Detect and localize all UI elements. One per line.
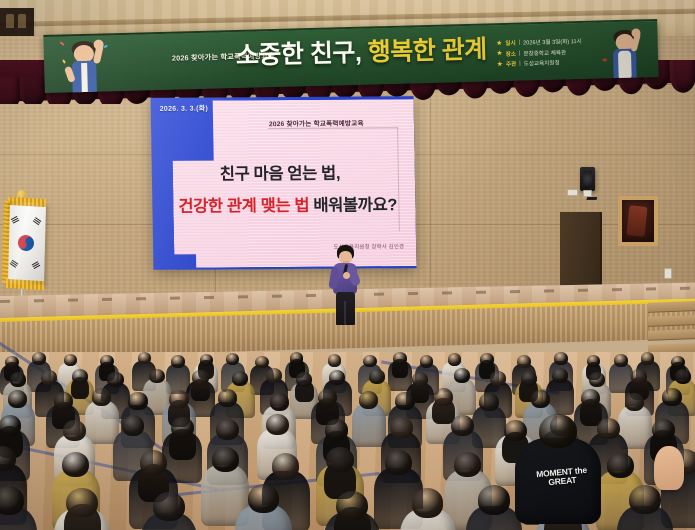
audience-head — [192, 370, 208, 385]
audience-head — [325, 419, 348, 440]
audience-head — [412, 372, 428, 387]
audience-head — [66, 488, 98, 517]
trigram — [11, 216, 20, 224]
trigram — [33, 217, 42, 225]
audience-head — [395, 392, 414, 410]
star-icon: ★ — [497, 61, 503, 68]
slide-header-text: 2026 찾아가는 학교폭력예방교육 — [269, 117, 364, 128]
audience-head — [72, 369, 88, 384]
audience-head — [412, 488, 444, 517]
curtain-scallop — [669, 60, 695, 93]
audience-head — [607, 453, 634, 478]
audience-head — [434, 388, 453, 406]
audience-head — [0, 415, 21, 436]
audience-head — [589, 372, 605, 387]
slide-highlight: 건강한 관계 맺는 법 — [178, 197, 309, 216]
audience-head — [539, 414, 577, 448]
audience-head — [517, 355, 531, 367]
audience-head — [675, 369, 691, 384]
stage-steps[interactable] — [648, 295, 695, 359]
banner-info-row: ★ 주관 | 도성교육지원청 — [497, 58, 583, 68]
curtain-scallop — [0, 77, 21, 104]
banner-title-part1: 소중한 친구, — [236, 39, 362, 70]
audience-member — [235, 484, 291, 530]
audience-head — [328, 354, 342, 366]
separator: | — [519, 61, 521, 67]
banner-title-part2: 행복한 관계 — [367, 35, 487, 66]
audience-head — [581, 389, 600, 407]
presenter-pants — [336, 292, 355, 325]
audience-head — [226, 353, 240, 365]
banner-info-label: 일시 — [505, 39, 516, 47]
audience-head — [587, 355, 601, 367]
audience-head — [554, 352, 568, 364]
audience-head — [296, 372, 312, 387]
audience-head — [521, 371, 537, 386]
audience-head — [336, 491, 368, 520]
audience-head — [140, 450, 167, 475]
audience-head — [100, 355, 114, 367]
banner-info-label: 장소 — [506, 49, 517, 57]
audience-head — [329, 370, 345, 385]
flag-fringe-side — [2, 201, 10, 283]
audience-member — [324, 491, 380, 530]
photo-scene: 2026 찾아가는 학교폭력예방교육 소중한 친구, 행복한 관계 ★ 일시 |… — [0, 0, 695, 530]
audience-head — [122, 415, 145, 436]
audience-head — [318, 389, 337, 407]
audience-head — [614, 354, 628, 366]
separator: | — [519, 50, 521, 56]
audience-head — [54, 392, 73, 410]
audience-head — [448, 353, 462, 365]
audience-head — [153, 492, 185, 521]
audience-head — [41, 370, 57, 385]
mascot-right-icon — [599, 27, 652, 80]
audience-head — [326, 447, 353, 472]
audience-head — [64, 354, 78, 366]
trigram — [10, 260, 19, 268]
audience-head — [266, 414, 289, 435]
audience-member-featured: MOMENT the GREAT — [515, 418, 601, 522]
audience-head — [363, 355, 377, 367]
curtain-scallop — [20, 76, 47, 104]
raised-hand — [654, 446, 684, 490]
audience-head — [62, 452, 89, 477]
banner-info-text: 도성교육지원청 — [524, 59, 560, 68]
audience-head — [171, 417, 194, 438]
audience-head — [171, 355, 185, 367]
audience-head — [454, 452, 481, 477]
audience-head — [454, 368, 470, 383]
audience-head — [248, 484, 280, 513]
audience-head — [420, 355, 434, 367]
audience-head — [10, 372, 26, 387]
audience-head — [662, 388, 681, 406]
audience-head — [0, 486, 24, 515]
audience-head — [490, 371, 506, 386]
mascot-left-icon — [57, 39, 114, 93]
audience-head — [552, 368, 568, 383]
audience-head — [671, 356, 685, 368]
slide-headline-line1: 친구 마음 얻는 법, — [220, 160, 341, 185]
audience-head — [200, 354, 214, 366]
star-icon: ★ — [496, 40, 502, 47]
projection-screen: 2026. 3. 3.(화) 2026 찾아가는 학교폭력예방교육 친구 마음 … — [150, 96, 416, 270]
audience-head — [641, 352, 655, 364]
audience-head — [107, 372, 123, 387]
audience-head — [451, 415, 474, 436]
presenter-hand — [343, 272, 350, 279]
wall-switch-plate[interactable] — [583, 190, 592, 197]
audience-member — [617, 485, 673, 530]
projection-booth-window — [618, 196, 658, 246]
audience-head — [63, 420, 86, 441]
audience-head — [216, 419, 239, 440]
audience-head — [478, 485, 510, 514]
audience-head — [631, 369, 647, 384]
slide-headline-line2: 건강한 관계 맺는 법 배워볼까요? — [178, 191, 397, 217]
audience-head — [149, 369, 165, 384]
audience-head — [531, 390, 550, 408]
audience-head — [359, 391, 378, 409]
audience-head — [138, 352, 152, 364]
audience-head — [479, 393, 498, 411]
audience-head — [255, 356, 269, 368]
slide-date-label: 2026. 3. 3.(화) — [160, 104, 209, 114]
slide-line2-rest: 배워볼까요? — [309, 196, 397, 215]
audience-head — [8, 390, 27, 408]
audience-head — [390, 417, 413, 438]
audience-head — [5, 356, 19, 368]
banner-info-row: ★ 일시 | 2026년 3월 3일(화) 11시 — [496, 37, 582, 47]
wall-switch-plate[interactable] — [567, 189, 578, 196]
banner-info-text: 문창중학교 체육관 — [523, 48, 566, 57]
audience-head — [212, 447, 239, 472]
audience-head — [652, 419, 675, 440]
banner-info-list: ★ 일시 | 2026년 3월 3일(화) 11시 ★ 장소 | 문창중학교 체… — [496, 37, 582, 68]
audience-head — [270, 393, 289, 411]
flag-fringe-top — [8, 197, 46, 207]
taeguk-symbol — [15, 232, 37, 254]
audience-head — [266, 368, 282, 383]
audience-member — [0, 486, 37, 530]
banner-info-text: 2026년 3월 3일(화) 11시 — [523, 37, 582, 47]
audience-head — [625, 393, 644, 411]
audience-member — [400, 488, 456, 530]
banner-info-label: 주관 — [506, 60, 517, 68]
audience-head — [393, 352, 407, 364]
korean-flag-icon — [6, 201, 46, 285]
separator: | — [519, 40, 521, 46]
banner-info-row: ★ 장소 | 문창중학교 체육관 — [496, 47, 582, 57]
audience-head — [629, 485, 661, 514]
trigram — [32, 261, 41, 269]
star-icon: ★ — [496, 50, 502, 57]
audience-head — [218, 389, 237, 407]
audience-member — [466, 485, 522, 530]
banner-title: 소중한 친구, 행복한 관계 — [236, 37, 487, 69]
audience-head — [32, 352, 46, 364]
audience-head — [290, 352, 304, 364]
audience-head — [128, 392, 147, 410]
audience-head — [92, 388, 111, 406]
audience-member — [54, 488, 110, 530]
audience-head — [385, 450, 412, 475]
presenter-figure — [328, 245, 362, 323]
banner-subtitle: 2026 찾아가는 학교폭력예방교육 — [172, 51, 275, 64]
audience-head — [272, 453, 299, 478]
audience-head — [369, 369, 385, 384]
audience-head — [480, 353, 494, 365]
audience-head — [169, 390, 188, 408]
audience-member — [141, 492, 197, 530]
wall-outlet-plate[interactable] — [664, 268, 672, 279]
